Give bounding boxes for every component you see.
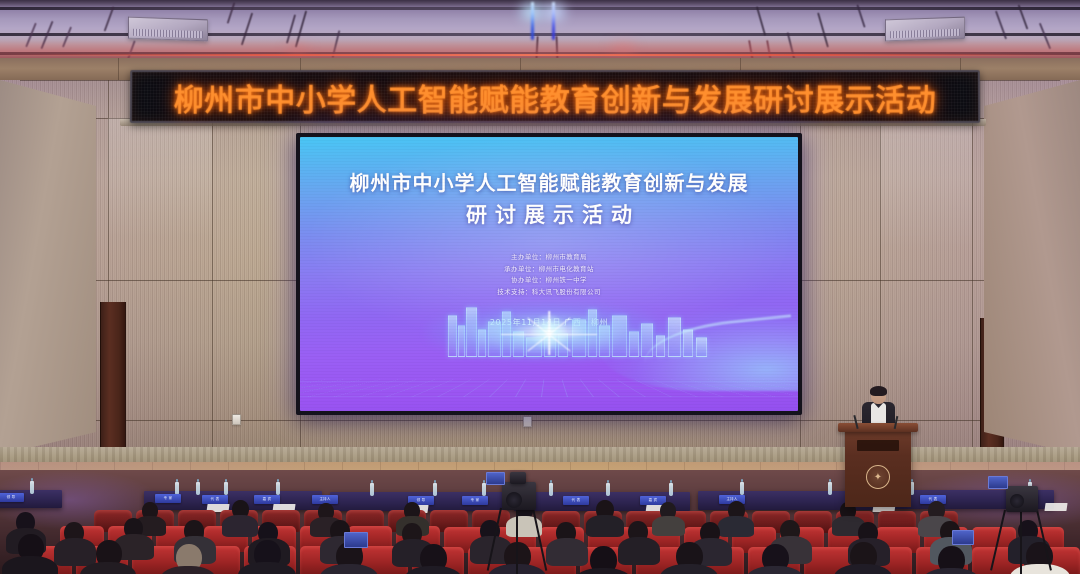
air-conditioner-vent-right xyxy=(885,17,965,42)
podium: ✦ xyxy=(845,429,911,507)
nameplate: 专 家 xyxy=(155,494,181,503)
wall-outlet-plate-4[interactable] xyxy=(523,416,532,427)
auditorium-scene: 柳州市中小学人工智能赋能教育创新与发展研讨展示活动 柳州市中小学人工智能赋能教育… xyxy=(0,0,1080,574)
nameplate: 代 表 xyxy=(563,496,589,505)
led-banner-text: 柳州市中小学人工智能赋能教育创新与发展研讨展示活动 xyxy=(132,72,978,121)
school-emblem-icon: ✦ xyxy=(866,465,890,489)
nameplate: 嘉 宾 xyxy=(254,495,280,504)
side-door-left[interactable] xyxy=(100,302,126,455)
camera-lcd-screen xyxy=(486,472,505,485)
video-camera-tripod-center xyxy=(488,466,548,574)
air-conditioner-vent-left xyxy=(128,17,208,42)
left-side-wall xyxy=(0,80,96,455)
video-camera-tripod-right xyxy=(990,472,1052,574)
led-banner: 柳州市中小学人工智能赋能教育创新与发展研讨展示活动 xyxy=(130,70,980,123)
camera-lcd-screen-right xyxy=(988,476,1008,489)
led-screen: 柳州市中小学人工智能赋能教育创新与发展 研讨展示活动 主办单位：柳州市教育局 承… xyxy=(300,137,798,411)
nameplate: 代 表 xyxy=(202,495,228,504)
right-side-wall xyxy=(984,80,1080,455)
ceiling xyxy=(0,0,1080,62)
attendee-tablet-1 xyxy=(344,532,368,548)
wall-outlet-plate-3[interactable] xyxy=(232,414,241,425)
attendee-tablet-2 xyxy=(952,530,974,545)
nameplate: 领 导 xyxy=(0,493,24,502)
nameplate: 专 家 xyxy=(462,496,488,505)
led-screen-frame: 柳州市中小学人工智能赋能教育创新与发展 研讨展示活动 主办单位：柳州市教育局 承… xyxy=(296,133,802,415)
